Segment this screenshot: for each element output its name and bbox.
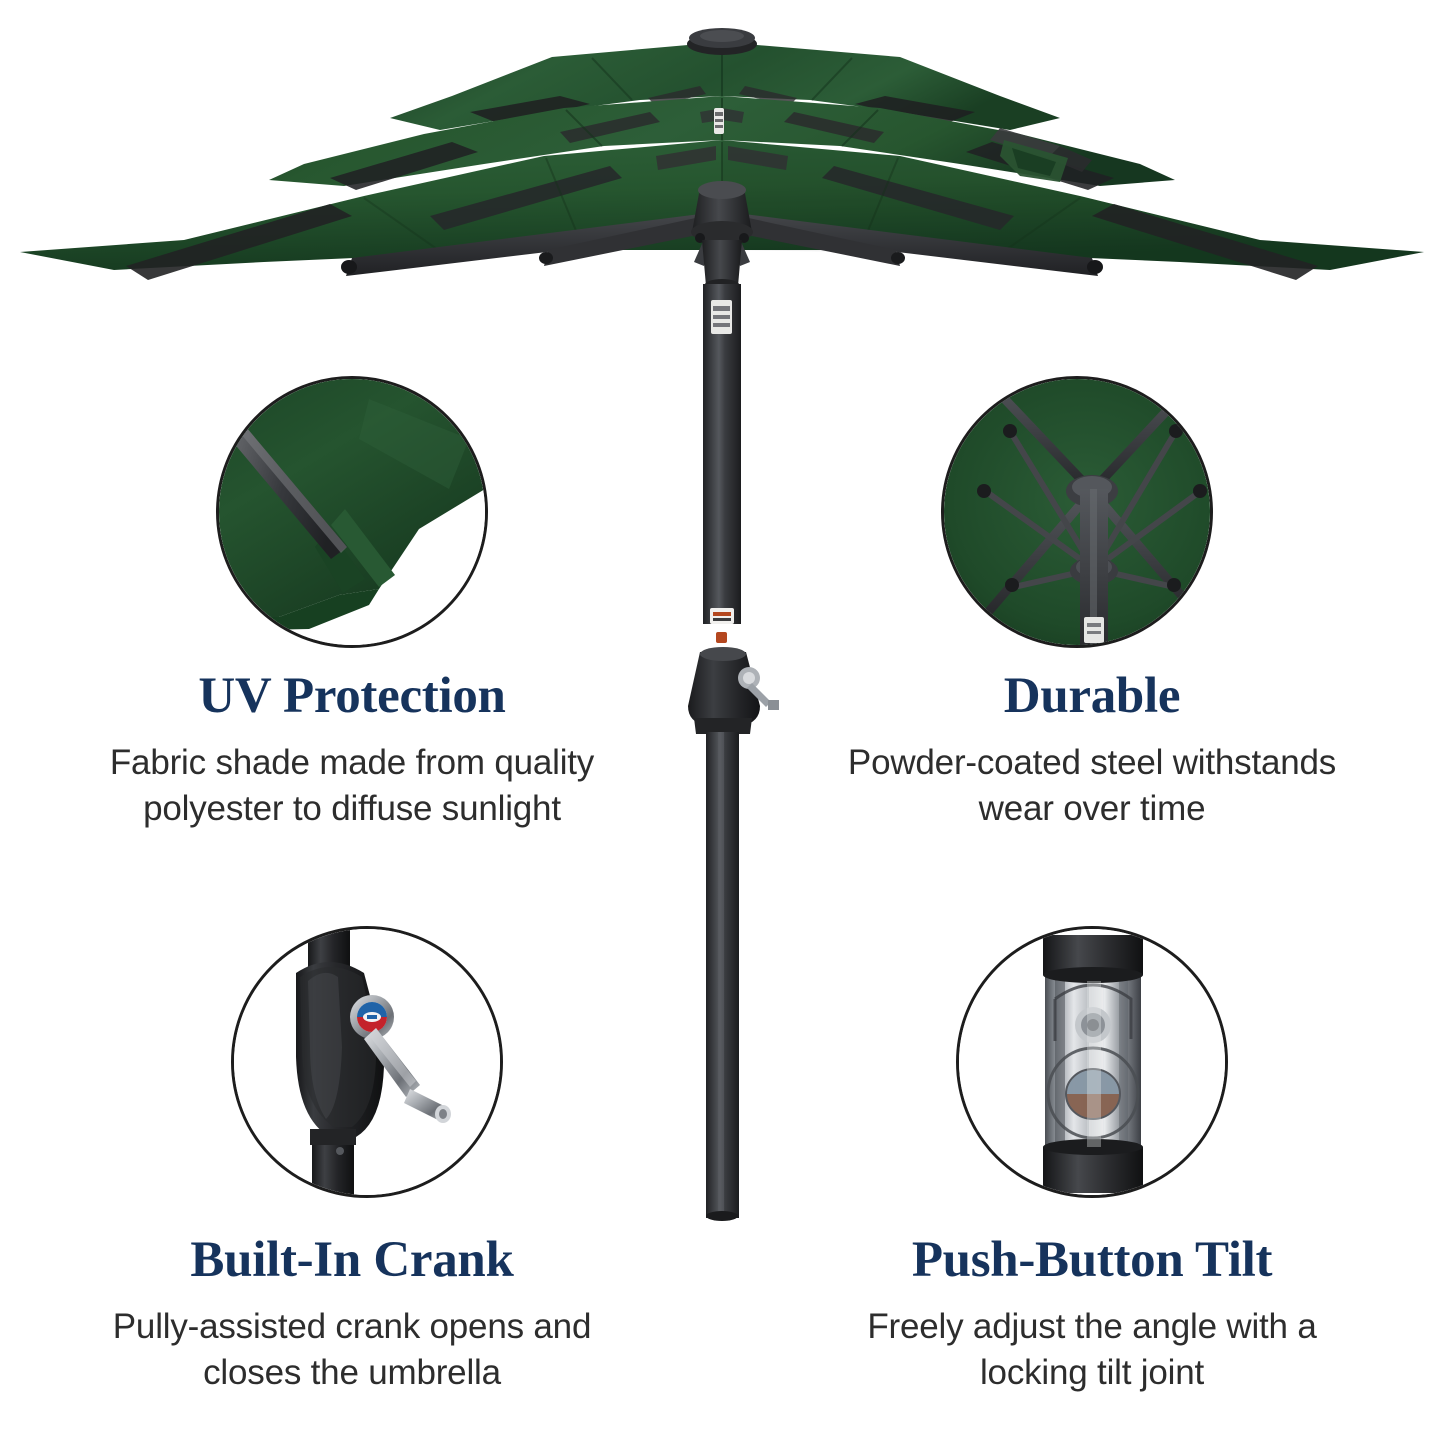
feature-desc-line: Powder-coated steel withstands	[848, 743, 1336, 782]
feature-desc-line: Pully-assisted crank opens and	[113, 1307, 591, 1346]
feature-desc-durable: Powder-coated steel withstands wear over…	[762, 740, 1422, 832]
feature-desc-line: Freely adjust the angle with a	[867, 1307, 1316, 1346]
feature-title-push-button-tilt: Push-Button Tilt	[762, 1232, 1422, 1288]
feature-desc-line: wear over time	[979, 789, 1206, 828]
feature-desc-line: locking tilt joint	[980, 1353, 1204, 1392]
canopy-finial	[687, 28, 757, 55]
feature-desc-line: polyester to diffuse sunlight	[143, 789, 561, 828]
feature-closeup-uv-protection	[216, 376, 488, 648]
feature-desc-uv-protection: Fabric shade made from quality polyester…	[22, 740, 682, 832]
feature-title-uv-protection: UV Protection	[22, 668, 682, 724]
feature-text-built-in-crank: Built-In Crank Pully-assisted crank open…	[22, 1232, 682, 1396]
infographic-page: UV Protection Fabric shade made from qua…	[0, 0, 1445, 1445]
feature-desc-line: Fabric shade made from quality	[110, 743, 594, 782]
canopy-tier-top	[390, 42, 1060, 130]
canopy-support-struts	[341, 181, 1103, 293]
feature-closeup-durable	[941, 376, 1213, 648]
canopy-tier-middle	[269, 96, 1175, 190]
feature-desc-push-button-tilt: Freely adjust the angle with a locking t…	[762, 1304, 1422, 1396]
feature-title-built-in-crank: Built-In Crank	[22, 1232, 682, 1288]
feature-desc-built-in-crank: Pully-assisted crank opens and closes th…	[22, 1304, 682, 1396]
feature-closeup-push-button-tilt	[956, 926, 1228, 1198]
canopy-tier-bottom	[20, 140, 1424, 280]
feature-closeup-built-in-crank	[231, 926, 503, 1198]
feature-title-durable: Durable	[762, 668, 1422, 724]
feature-text-uv-protection: UV Protection Fabric shade made from qua…	[22, 668, 682, 832]
product-hero-image	[0, 0, 1445, 1240]
feature-text-push-button-tilt: Push-Button Tilt Freely adjust the angle…	[762, 1232, 1422, 1396]
feature-text-durable: Durable Powder-coated steel withstands w…	[762, 668, 1422, 832]
feature-desc-line: closes the umbrella	[203, 1353, 501, 1392]
